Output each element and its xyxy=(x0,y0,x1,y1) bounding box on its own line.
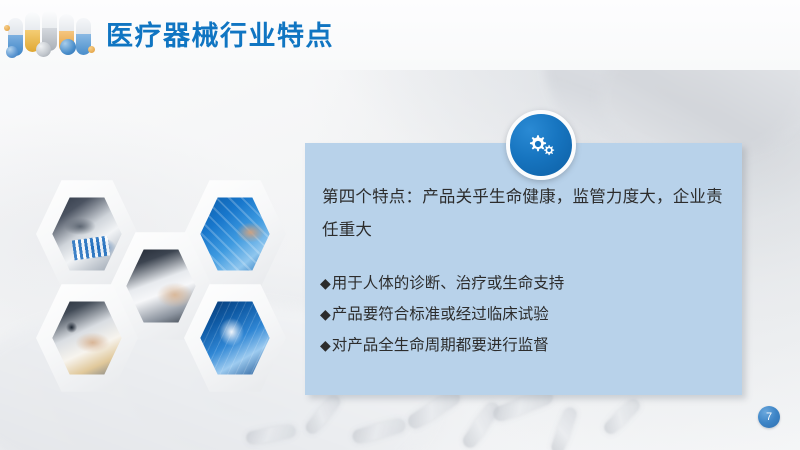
slide-canvas: 医疗器械行业特点 xyxy=(0,0,800,450)
gear-icon xyxy=(506,110,576,180)
capsules-icon xyxy=(4,6,96,62)
hex-photo-image xyxy=(52,300,121,376)
background-capsule xyxy=(602,397,643,437)
sphere-grey xyxy=(36,42,51,57)
list-item: ◆对产品全生命周期都要进行监督 xyxy=(320,330,725,361)
hex-photo-image xyxy=(200,300,269,376)
sphere-orange-dot-left xyxy=(4,25,10,31)
sphere-orange-dot-right xyxy=(88,46,95,53)
panel-heading: 第四个特点：产品关乎生命健康，监管力度大，企业责任重大 xyxy=(322,181,724,247)
page-title: 医疗器械行业特点 xyxy=(106,14,334,53)
list-item-label: 对产品全生命周期都要进行监督 xyxy=(332,337,549,354)
sphere-blue-large xyxy=(60,39,76,55)
hexagon-photo-cluster xyxy=(36,178,286,374)
list-item-label: 产品要符合标准或经过临床试验 xyxy=(332,306,549,323)
feature-bullet-list: ◆用于人体的诊断、治疗或生命支持 ◆产品要符合标准或经过临床试验 ◆对产品全生命… xyxy=(320,268,725,361)
list-item: ◆用于人体的诊断、治疗或生命支持 xyxy=(320,268,725,299)
page-number-badge: 7 xyxy=(758,406,780,428)
list-item: ◆产品要符合标准或经过临床试验 xyxy=(320,299,725,330)
diamond-bullet-icon: ◆ xyxy=(320,306,331,322)
hex-photo-image xyxy=(200,196,269,272)
list-item-label: 用于人体的诊断、治疗或生命支持 xyxy=(332,275,565,292)
hex-photo-image xyxy=(52,196,121,272)
background-capsule xyxy=(550,406,579,450)
slide-header: 医疗器械行业特点 xyxy=(0,0,800,70)
sphere-blue-small xyxy=(6,46,18,58)
hex-photo-image xyxy=(126,248,195,324)
diamond-bullet-icon: ◆ xyxy=(320,337,331,353)
diamond-bullet-icon: ◆ xyxy=(320,275,331,291)
